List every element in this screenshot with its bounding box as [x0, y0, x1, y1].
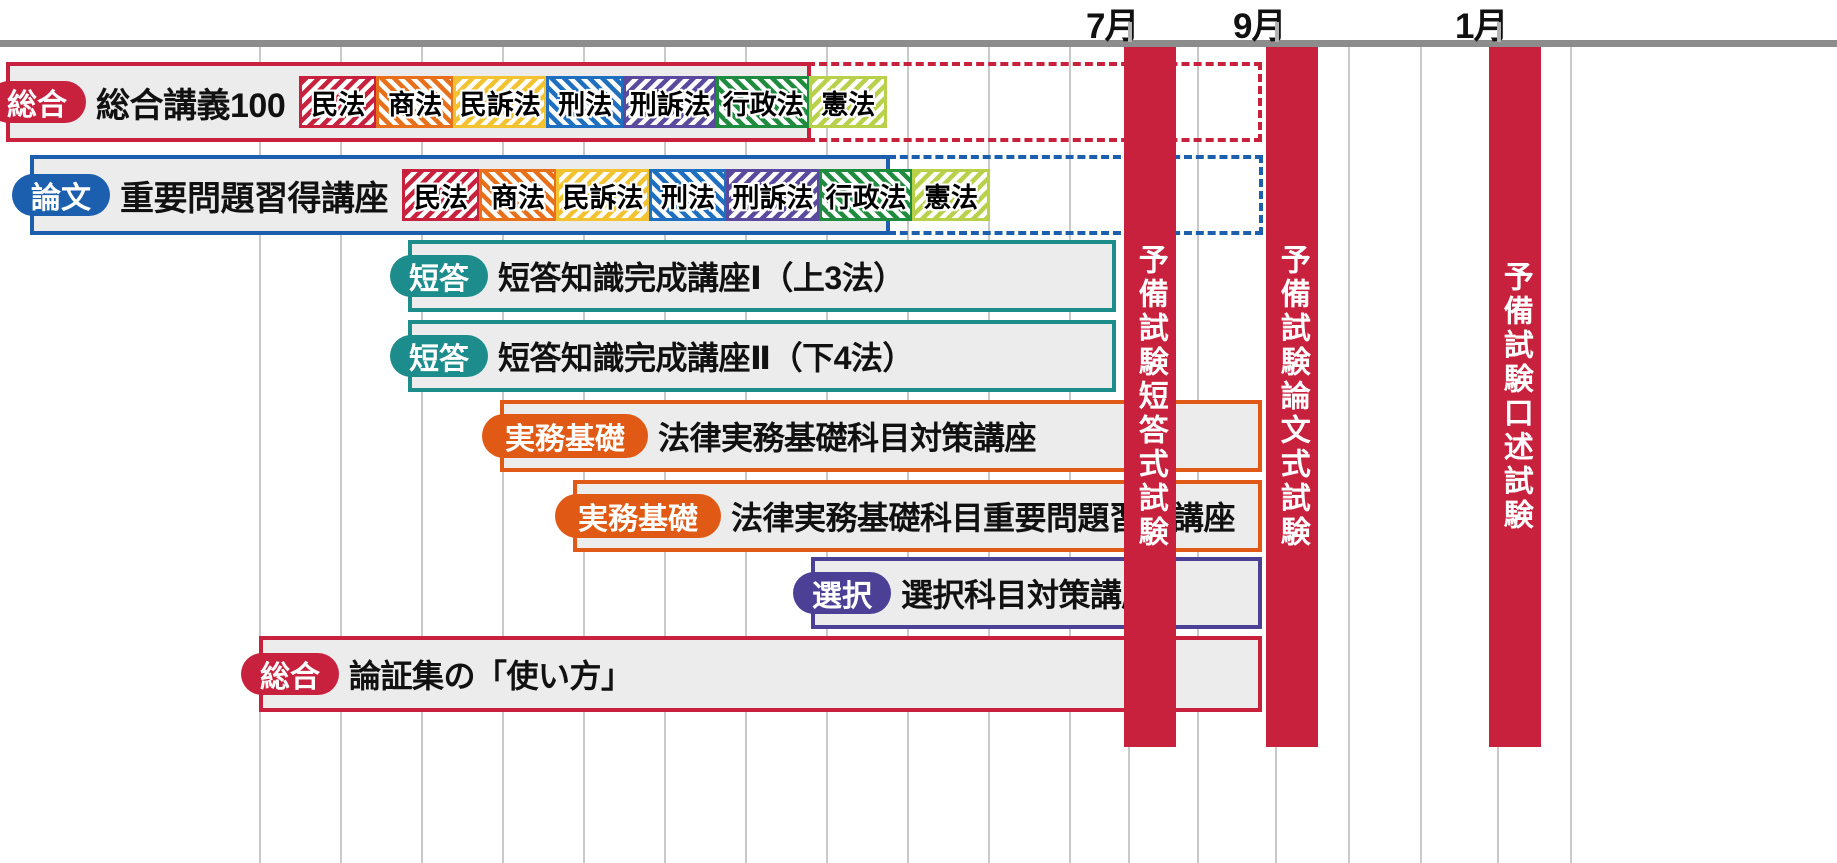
subject-chip-gyoseiho: 行政法	[819, 169, 913, 221]
course-title-sentaku-kamoku: 選択科目対策講座	[901, 570, 1153, 616]
course-tag-tanto-chishiki-2: 短答	[390, 335, 488, 377]
ronbun-exam-label: 予備試験論文式試験	[1276, 244, 1308, 550]
course-tag-sogo-kogi-100: 総合	[0, 81, 86, 123]
subject-chip-label-keisoho: 刑訴法	[728, 176, 819, 215]
koujutsu-exam: 予備試験口述試験	[1489, 47, 1541, 747]
subject-chip-minpo: 民法	[299, 76, 377, 128]
subject-chip-kenpo: 憲法	[912, 169, 990, 221]
subject-chip-label-gyoseiho: 行政法	[821, 176, 912, 215]
course-tag-jitsumu-kiso-juyo: 実務基礎	[555, 494, 721, 538]
course-tag-tanto-chishiki-1: 短答	[390, 255, 488, 297]
course-row-tanto-chishiki-1[interactable]: 短答短答知識完成講座Ⅰ（上3法）	[408, 240, 1116, 312]
subject-chip-shoho: 商法	[479, 169, 557, 221]
tanto-exam-label: 予備試験短答式試験	[1134, 244, 1166, 550]
subject-chips-juyo-mondai-shutoku: 民法商法民訴法刑法刑訴法行政法憲法	[402, 169, 989, 221]
course-row-ronshoshu-tsukaikata[interactable]: 総合論証集の「使い方」	[259, 636, 1262, 712]
course-row-sentaku-kamoku[interactable]: 選択選択科目対策講座	[811, 557, 1262, 629]
course-title-sogo-kogi-100: 総合講義100	[96, 78, 285, 127]
koujutsu-exam-label: 予備試験口述試験	[1499, 261, 1531, 533]
course-row-sogo-kogi-100[interactable]: 総合総合講義100民法商法民訴法刑法刑訴法行政法憲法	[6, 62, 811, 142]
subject-chip-minsoho: 民訴法	[556, 169, 650, 221]
timeline-axis	[0, 40, 1837, 47]
subject-chip-label-shoho: 商法	[486, 176, 550, 215]
subject-chip-label-minsoho: 民訴法	[455, 83, 546, 122]
course-row-juyo-mondai-shutoku[interactable]: 論文重要問題習得講座民法商法民訴法刑法刑訴法行政法憲法	[30, 155, 890, 235]
course-title-ronshoshu-tsukaikata: 論証集の「使い方」	[349, 651, 633, 697]
subject-chip-label-keiho: 刑法	[656, 176, 720, 215]
subject-chip-keiho: 刑法	[546, 76, 624, 128]
subject-chip-shoho: 商法	[376, 76, 454, 128]
subject-chip-minsoho: 民訴法	[453, 76, 547, 128]
subject-chip-label-kenpo: 憲法	[919, 176, 983, 215]
course-tag-ronshoshu-tsukaikata: 総合	[241, 653, 339, 695]
tanto-exam: 予備試験短答式試験	[1124, 47, 1176, 747]
month-tick-september	[1275, 22, 1279, 42]
month-tick-january	[1497, 22, 1501, 42]
subject-chip-label-keiho: 刑法	[553, 83, 617, 122]
subject-chips-sogo-kogi-100: 民法商法民訴法刑法刑訴法行政法憲法	[299, 76, 886, 128]
course-title-tanto-chishiki-2: 短答知識完成講座Ⅱ（下4法）	[498, 333, 914, 379]
subject-chip-minpo: 民法	[402, 169, 480, 221]
subject-chip-label-shoho: 商法	[383, 83, 447, 122]
grid-line-17	[1570, 47, 1572, 863]
month-tick-july	[1128, 22, 1132, 42]
subject-chip-keisoho: 刑訴法	[726, 169, 820, 221]
subject-chip-gyoseiho: 行政法	[716, 76, 810, 128]
schedule-chart: 7月9月1月 予備試験短答式試験予備試験論文式試験予備試験口述試験 総合総合講義…	[0, 0, 1837, 863]
course-row-tanto-chishiki-2[interactable]: 短答短答知識完成講座Ⅱ（下4法）	[408, 320, 1116, 392]
course-title-jitsumu-kiso-taisaku: 法律実務基礎科目対策講座	[658, 413, 1036, 459]
subject-chip-keiho: 刑法	[649, 169, 727, 221]
subject-chip-label-keisoho: 刑訴法	[625, 83, 716, 122]
subject-chip-label-minpo: 民法	[306, 83, 370, 122]
ronbun-exam: 予備試験論文式試験	[1266, 47, 1318, 747]
subject-chip-label-minpo: 民法	[409, 176, 473, 215]
course-title-tanto-chishiki-1: 短答知識完成講座Ⅰ（上3法）	[498, 253, 905, 299]
subject-chip-label-minsoho: 民訴法	[558, 176, 649, 215]
subject-chip-label-gyoseiho: 行政法	[718, 83, 809, 122]
grid-line-15	[1420, 47, 1422, 863]
course-title-juyo-mondai-shutoku: 重要問題習得講座	[120, 171, 388, 220]
course-tag-jitsumu-kiso-taisaku: 実務基礎	[482, 414, 648, 458]
subject-chip-keisoho: 刑訴法	[623, 76, 717, 128]
grid-line-14	[1348, 47, 1350, 863]
course-tag-sentaku-kamoku: 選択	[793, 572, 891, 614]
subject-chip-kenpo: 憲法	[809, 76, 887, 128]
subject-chip-label-kenpo: 憲法	[816, 83, 880, 122]
course-tag-juyo-mondai-shutoku: 論文	[12, 174, 110, 216]
